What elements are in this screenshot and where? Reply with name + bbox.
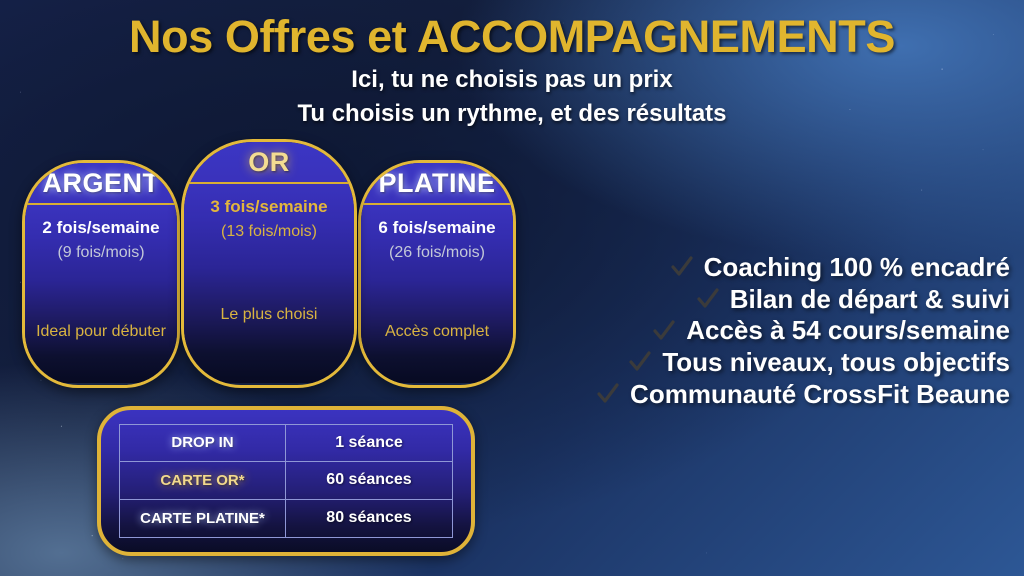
list-item: Bilan de départ & suivi	[695, 284, 1010, 315]
plan-or-frequency-monthly: (13 fois/mois)	[194, 221, 344, 243]
plan-card-or[interactable]: OR 3 fois/semaine (13 fois/mois) Le plus…	[181, 139, 357, 388]
benefit-label: Communauté CrossFit Beaune	[630, 379, 1010, 410]
plan-or-note: Le plus choisi	[184, 306, 354, 324]
plan-card-argent-body: 2 fois/semaine (9 fois/mois) Ideal pour …	[25, 205, 177, 383]
list-item: Coaching 100 % encadré	[669, 252, 1010, 283]
pricing-table-card: DROP IN 1 séance CARTE OR* 60 séances CA…	[97, 406, 475, 556]
list-item: Accès à 54 cours/semaine	[651, 315, 1010, 346]
plan-argent-note: Ideal pour débuter	[25, 323, 177, 341]
subtitle-line-2: Tu choisis un rythme, et des résultats	[0, 100, 1024, 128]
list-item: Communauté CrossFit Beaune	[595, 379, 1010, 410]
table-row[interactable]: CARTE OR* 60 séances	[119, 462, 453, 500]
plan-platine-frequency-monthly: (26 fois/mois)	[371, 242, 503, 264]
check-icon	[651, 318, 677, 344]
plan-card-platine-body: 6 fois/semaine (26 fois/mois) Accès comp…	[361, 205, 513, 383]
check-icon	[595, 381, 621, 407]
plan-card-or-header: OR	[184, 142, 354, 184]
table-row[interactable]: CARTE PLATINE* 80 séances	[119, 500, 453, 538]
check-icon	[669, 254, 695, 280]
plan-or-frequency: 3 fois/semaine	[194, 196, 344, 217]
plan-card-platine[interactable]: PLATINE 6 fois/semaine (26 fois/mois) Ac…	[358, 160, 516, 388]
benefit-label: Accès à 54 cours/semaine	[686, 315, 1010, 346]
plan-argent-frequency-monthly: (9 fois/mois)	[35, 242, 167, 264]
promo-slide: Nos Offres et ACCOMPAGNEMENTS Ici, tu ne…	[0, 0, 1024, 576]
table-cell-label: CARTE PLATINE*	[119, 500, 286, 538]
table-cell-value: 1 séance	[286, 424, 453, 462]
plan-card-platine-title: PLATINE	[379, 168, 496, 199]
plan-card-or-title: OR	[248, 147, 290, 178]
subtitle-line-1: Ici, tu ne choisis pas un prix	[0, 66, 1024, 94]
benefits-list: Coaching 100 % encadré Bilan de départ &…	[540, 252, 1010, 410]
table-cell-value: 60 séances	[286, 462, 453, 500]
plan-card-argent-header: ARGENT	[25, 163, 177, 205]
plan-argent-frequency: 2 fois/semaine	[35, 217, 167, 238]
plan-platine-frequency: 6 fois/semaine	[371, 217, 503, 238]
table-cell-value: 80 séances	[286, 500, 453, 538]
benefit-label: Tous niveaux, tous objectifs	[662, 347, 1010, 378]
check-icon	[695, 286, 721, 312]
table-cell-label: CARTE OR*	[119, 462, 286, 500]
plan-card-argent[interactable]: ARGENT 2 fois/semaine (9 fois/mois) Idea…	[22, 160, 180, 388]
table-row[interactable]: DROP IN 1 séance	[119, 424, 453, 462]
benefit-label: Coaching 100 % encadré	[704, 252, 1010, 283]
list-item: Tous niveaux, tous objectifs	[627, 347, 1010, 378]
plan-card-argent-title: ARGENT	[43, 168, 160, 199]
benefit-label: Bilan de départ & suivi	[730, 284, 1010, 315]
plan-platine-note: Accès complet	[361, 323, 513, 341]
check-icon	[627, 349, 653, 375]
table-cell-label: DROP IN	[119, 424, 286, 462]
plan-card-platine-header: PLATINE	[361, 163, 513, 205]
plan-card-or-body: 3 fois/semaine (13 fois/mois) Le plus ch…	[184, 184, 354, 383]
pricing-table: DROP IN 1 séance CARTE OR* 60 séances CA…	[101, 410, 471, 552]
page-title: Nos Offres et ACCOMPAGNEMENTS	[0, 11, 1024, 63]
